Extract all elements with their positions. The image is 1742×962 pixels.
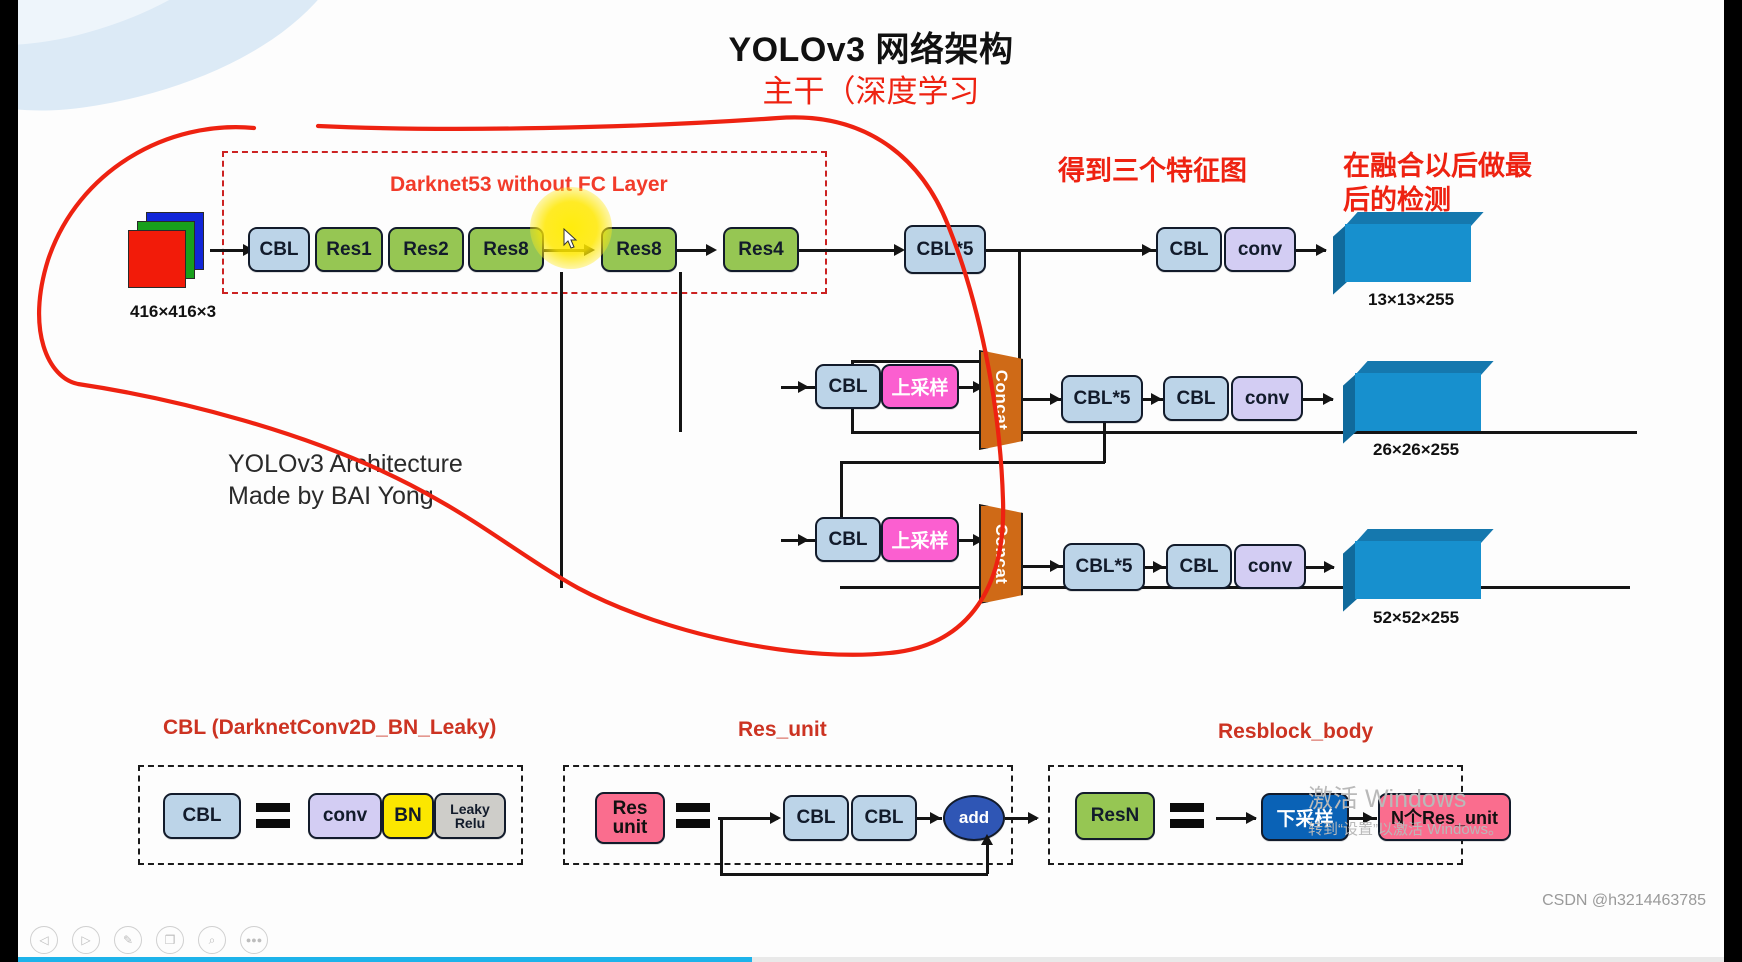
legend-res-unit-arrow-in bbox=[770, 812, 781, 824]
legend-res-unit-equals bbox=[676, 803, 710, 828]
line-res8a-skip-down bbox=[560, 272, 563, 588]
arrow-cbl5-to-cbl-head3 bbox=[1153, 561, 1164, 573]
line-res4-to-cbl5 bbox=[799, 249, 899, 252]
zoom-icon[interactable]: ⌕ bbox=[198, 926, 226, 954]
legend-cbl-bn[interactable]: BN bbox=[382, 793, 434, 839]
concat-head3-label: Concat bbox=[991, 524, 1011, 585]
windows-activation-watermark: 激活 Windows 转到“设置”以激活 Windows。 bbox=[1308, 779, 1503, 839]
block-head2-conv[interactable]: conv bbox=[1231, 376, 1303, 421]
legend-res-unit-line-in bbox=[718, 817, 778, 820]
player-toolbar: ◁ ▷ ✎ ❒ ⌕ ●●● bbox=[18, 918, 1724, 962]
block-head2-upsample[interactable]: 上采样 bbox=[881, 364, 959, 409]
architecture-credit: YOLOv3 Architecture Made by BAI Yong bbox=[228, 448, 463, 512]
line-head2-down bbox=[1103, 423, 1106, 463]
legend-resblock-resn[interactable]: ResN bbox=[1075, 792, 1155, 840]
arrow-concat-to-cbl5-head2 bbox=[1050, 393, 1061, 405]
block-head2-cbl[interactable]: CBL bbox=[815, 364, 881, 409]
legend-res-unit-arrow-out bbox=[1028, 812, 1039, 824]
pen-icon[interactable]: ✎ bbox=[114, 926, 142, 954]
arrow-route-into-cbl-head2 bbox=[798, 381, 809, 393]
concat-head2-label: Concat bbox=[991, 370, 1011, 431]
line-head2-route bbox=[851, 431, 1637, 434]
input-dim-label: 416×416×3 bbox=[130, 302, 216, 322]
legend-resblock-equals bbox=[1170, 803, 1204, 828]
video-progress-bar[interactable] bbox=[18, 957, 1724, 962]
input-channel-red bbox=[128, 230, 186, 288]
mouse-cursor-icon bbox=[563, 228, 578, 250]
arrow-conv-to-cube-head3 bbox=[1324, 561, 1335, 573]
output-cube-52 bbox=[1343, 529, 1493, 601]
legend-res-unit-skip-bottom bbox=[720, 873, 988, 876]
watermark-line-1: 激活 Windows bbox=[1308, 779, 1503, 815]
arrow-route-into-cbl-head3 bbox=[798, 534, 809, 546]
legend-cbl-conv[interactable]: conv bbox=[308, 793, 382, 839]
annotation-three-feature-maps: 得到三个特征图 bbox=[1058, 155, 1247, 189]
output-dim-26: 26×26×255 bbox=[1373, 440, 1459, 460]
input-image-stack bbox=[128, 212, 208, 292]
arrow-res8b-to-res4 bbox=[706, 244, 717, 256]
block-head1-cbl5[interactable]: CBL*5 bbox=[904, 225, 986, 274]
legend-res-unit-cbl-2[interactable]: CBL bbox=[851, 795, 917, 841]
layout-icon[interactable]: ❒ bbox=[156, 926, 184, 954]
line-cbl5-to-cbl-head1 bbox=[986, 249, 1156, 252]
play-icon[interactable]: ▷ bbox=[72, 926, 100, 954]
slide-canvas: YOLOv3 网络架构 主干（深度学习 得到三个特征图 在融合以后做最后的检测 … bbox=[18, 0, 1724, 918]
line-head3-route bbox=[840, 586, 1630, 589]
legend-res-unit-skip-right bbox=[986, 843, 989, 874]
legend-resblock-arrow-in bbox=[1246, 812, 1257, 824]
legend-cbl-leaky-relu-label: LeakyRelu bbox=[450, 802, 490, 831]
legend-res-unit-arrow-up bbox=[981, 834, 993, 845]
prev-icon[interactable]: ◁ bbox=[30, 926, 58, 954]
arrow-conv-to-cube-head2 bbox=[1323, 393, 1334, 405]
left-letterbox bbox=[0, 0, 18, 962]
block-head3-conv[interactable]: conv bbox=[1234, 544, 1306, 589]
legend-res-unit-arrow-to-add bbox=[930, 812, 941, 824]
line-cbl5-down-head2 bbox=[1018, 249, 1021, 362]
right-letterbox bbox=[1724, 0, 1742, 962]
block-backbone-cbl[interactable]: CBL bbox=[248, 227, 310, 272]
block-head2-cbl-out[interactable]: CBL bbox=[1163, 376, 1229, 421]
credit-line-1: YOLOv3 Architecture bbox=[228, 448, 463, 480]
concat-head3[interactable]: Concat bbox=[979, 504, 1023, 604]
page-title: YOLOv3 网络架构 bbox=[18, 22, 1724, 71]
more-icon[interactable]: ●●● bbox=[240, 926, 268, 954]
block-head2-cbl5[interactable]: CBL*5 bbox=[1061, 375, 1143, 423]
annotation-after-fusion: 在融合以后做最后的检测 bbox=[1343, 150, 1553, 218]
block-head3-upsample[interactable]: 上采样 bbox=[881, 517, 959, 562]
block-backbone-res8-b[interactable]: Res8 bbox=[601, 227, 677, 272]
output-dim-13: 13×13×255 bbox=[1368, 290, 1454, 310]
darknet53-label: Darknet53 without FC Layer bbox=[390, 173, 668, 197]
legend-cbl-leaky-relu[interactable]: LeakyRelu bbox=[434, 793, 506, 839]
block-head1-cbl[interactable]: CBL bbox=[1156, 227, 1222, 272]
line-res8b-skip-down bbox=[679, 272, 682, 432]
watermark-line-2: 转到“设置”以激活 Windows。 bbox=[1308, 818, 1503, 839]
block-backbone-res2[interactable]: Res2 bbox=[388, 227, 464, 272]
cube-front-face bbox=[1355, 541, 1481, 599]
credit-line-2: Made by BAI Yong bbox=[228, 480, 463, 512]
legend-cbl-equals bbox=[256, 803, 290, 828]
video-progress-fill bbox=[18, 957, 752, 962]
block-backbone-res4[interactable]: Res4 bbox=[723, 227, 799, 272]
legend-cbl-left[interactable]: CBL bbox=[163, 793, 241, 839]
output-cube-13 bbox=[1333, 212, 1483, 284]
line-head3-top-horizontal bbox=[840, 461, 1105, 464]
page-subtitle: 主干（深度学习 bbox=[18, 66, 1724, 111]
block-head3-cbl[interactable]: CBL bbox=[815, 517, 881, 562]
arrow-cbl5-to-cbl-head1 bbox=[1142, 244, 1153, 256]
legend-title-resblock-body: Resblock_body bbox=[1218, 720, 1373, 744]
cube-front-face bbox=[1355, 373, 1481, 431]
concat-head2[interactable]: Concat bbox=[979, 350, 1023, 450]
legend-res-unit-add[interactable]: add bbox=[943, 795, 1005, 841]
legend-res-unit-cbl-1[interactable]: CBL bbox=[783, 795, 849, 841]
block-head3-cbl5[interactable]: CBL*5 bbox=[1063, 543, 1145, 591]
csdn-watermark: CSDN @h3214463785 bbox=[1542, 892, 1706, 910]
screen: YOLOv3 网络架构 主干（深度学习 得到三个特征图 在融合以后做最后的检测 … bbox=[0, 0, 1742, 962]
output-dim-52: 52×52×255 bbox=[1373, 608, 1459, 628]
output-cube-26 bbox=[1343, 361, 1493, 433]
legend-res-unit-line-branch bbox=[720, 817, 723, 875]
arrow-conv-to-cube-head1 bbox=[1316, 244, 1327, 256]
block-backbone-res1[interactable]: Res1 bbox=[315, 227, 383, 272]
legend-res-unit-left[interactable]: Resunit bbox=[595, 792, 665, 844]
legend-title-res-unit: Res_unit bbox=[738, 718, 827, 742]
legend-title-cbl: CBL (DarknetConv2D_BN_Leaky) bbox=[163, 716, 496, 740]
block-head3-cbl-out[interactable]: CBL bbox=[1166, 544, 1232, 589]
arrow-cbl5-to-cbl-head2 bbox=[1151, 393, 1162, 405]
cube-front-face bbox=[1345, 224, 1471, 282]
legend-res-unit-left-label: Resunit bbox=[613, 799, 648, 838]
arrow-concat-to-cbl5-head3 bbox=[1050, 560, 1061, 572]
block-head1-conv[interactable]: conv bbox=[1224, 227, 1296, 272]
